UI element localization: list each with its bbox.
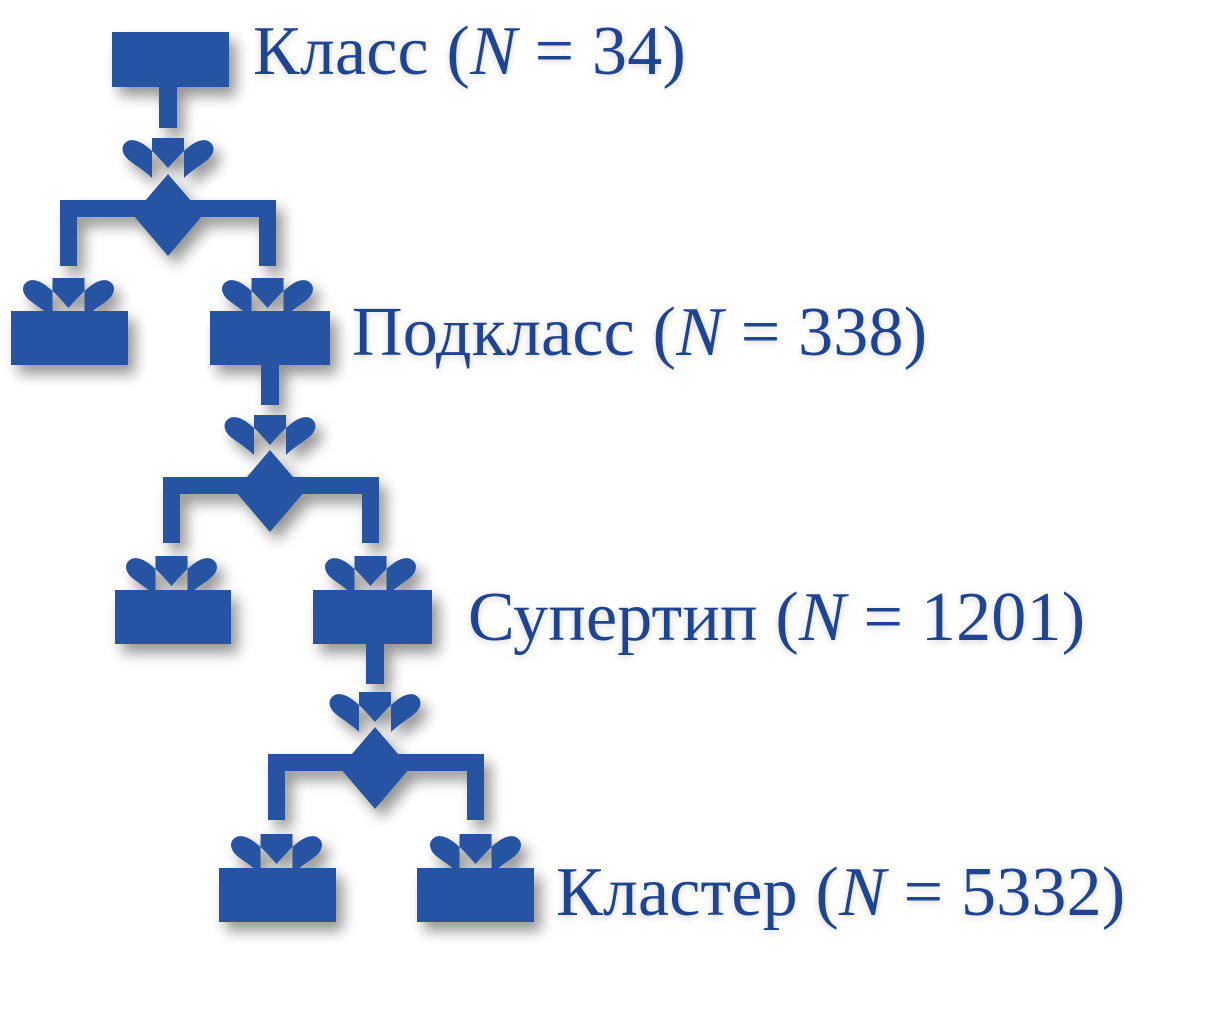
level-name-class: Класс — [253, 13, 429, 90]
node-box-cluster-left — [219, 868, 336, 922]
connector-split1-right-leg — [259, 200, 276, 266]
arrowhead-class-to-split1 — [123, 138, 214, 178]
level-count-cluster: 5332 — [961, 854, 1102, 931]
paren-open-subclass: ( — [653, 294, 677, 371]
paren-open-supertype: ( — [775, 579, 799, 656]
connector-split2-left-leg — [163, 477, 180, 543]
connector-subclass-to-split2 — [261, 363, 279, 405]
level-label-cluster: Кластер (N = 5332) — [556, 858, 1125, 928]
n-symbol-subclass: N — [676, 294, 723, 371]
paren-close-class: ) — [662, 13, 686, 90]
connector-class-to-split1 — [159, 85, 177, 128]
paren-open-cluster: ( — [816, 854, 840, 931]
n-symbol-supertype: N — [799, 579, 846, 656]
connector-split2-right-leg — [362, 477, 379, 543]
paren-close-supertype: ) — [1062, 579, 1086, 656]
equals-supertype: = — [863, 579, 903, 656]
paren-close-cluster: ) — [1102, 854, 1126, 931]
equals-subclass: = — [741, 294, 781, 371]
level-count-subclass: 338 — [798, 294, 904, 371]
connector-supertype-to-split3 — [366, 642, 384, 684]
arrowhead-supertype-to-split3 — [330, 692, 421, 732]
equals-class: = — [535, 13, 575, 90]
level-label-subclass: Подкласс (N = 338) — [352, 298, 927, 368]
node-box-supertype-left — [115, 590, 231, 644]
node-box-cluster-right — [417, 868, 534, 922]
node-box-subclass-right — [210, 311, 330, 365]
connector-split3-right-leg — [467, 754, 484, 820]
connector-split2-bus — [163, 477, 379, 494]
n-symbol-cluster: N — [839, 854, 886, 931]
equals-cluster: = — [904, 854, 944, 931]
arrowhead-subclass-to-split2 — [225, 415, 316, 455]
connector-split3-left-leg — [268, 754, 285, 820]
node-box-class — [112, 32, 229, 87]
n-symbol-class: N — [470, 13, 517, 90]
diagram-canvas: Класс (N = 34) Подкласс (N = 338) Суперт… — [0, 0, 1213, 1011]
level-label-class: Класс (N = 34) — [253, 17, 686, 87]
connector-split3-bus — [268, 754, 484, 771]
level-count-class: 34 — [592, 13, 662, 90]
level-name-supertype: Супертип — [468, 579, 758, 656]
node-box-supertype-right — [313, 590, 432, 644]
paren-open-class: ( — [447, 13, 471, 90]
level-name-subclass: Подкласс — [352, 294, 635, 371]
level-name-cluster: Кластер — [556, 854, 798, 931]
level-label-supertype: Супертип (N = 1201) — [468, 583, 1085, 653]
paren-close-subclass: ) — [904, 294, 928, 371]
level-count-supertype: 1201 — [921, 579, 1062, 656]
node-box-subclass-left — [11, 311, 128, 365]
connector-split1-left-leg — [60, 200, 77, 266]
connector-split1-bus — [60, 200, 276, 217]
